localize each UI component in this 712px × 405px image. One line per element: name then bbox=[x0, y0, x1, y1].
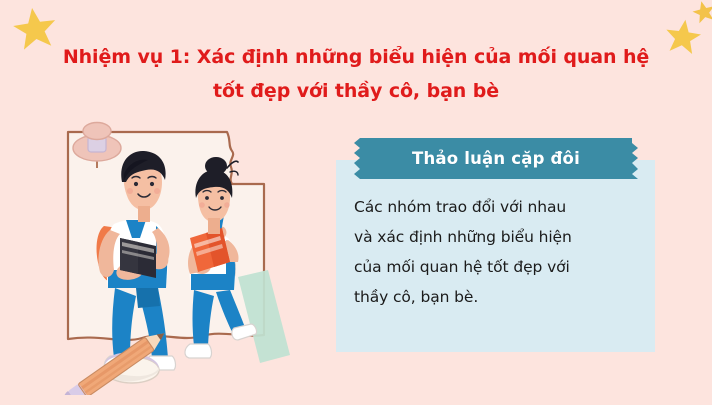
discussion-ribbon: Thảo luận cặp đôi bbox=[350, 138, 642, 179]
slide-title: Nhiệm vụ 1: Xác định những biểu hiện của… bbox=[0, 40, 712, 108]
slide-canvas: Nhiệm vụ 1: Xác định những biểu hiện của… bbox=[0, 0, 712, 405]
slide-title-line-1: Nhiệm vụ 1: Xác định những biểu hiện của… bbox=[0, 40, 712, 74]
discussion-ribbon-label: Thảo luận cặp đôi bbox=[350, 138, 642, 179]
discussion-text-line-3: của mối quan hệ tốt đẹp với bbox=[354, 252, 640, 282]
illustration-two-students bbox=[52, 120, 322, 395]
discussion-text-line-2: và xác định những biểu hiện bbox=[354, 222, 640, 252]
discussion-text-line-1: Các nhóm trao đổi với nhau bbox=[354, 192, 640, 222]
discussion-text-line-4: thầy cô, bạn bè. bbox=[354, 282, 640, 312]
star-top-right-small-icon bbox=[692, 0, 712, 24]
discussion-panel-text: Các nhóm trao đổi với nhau và xác định n… bbox=[354, 192, 640, 312]
slide-title-line-2: tốt đẹp với thầy cô, bạn bè bbox=[0, 74, 712, 108]
